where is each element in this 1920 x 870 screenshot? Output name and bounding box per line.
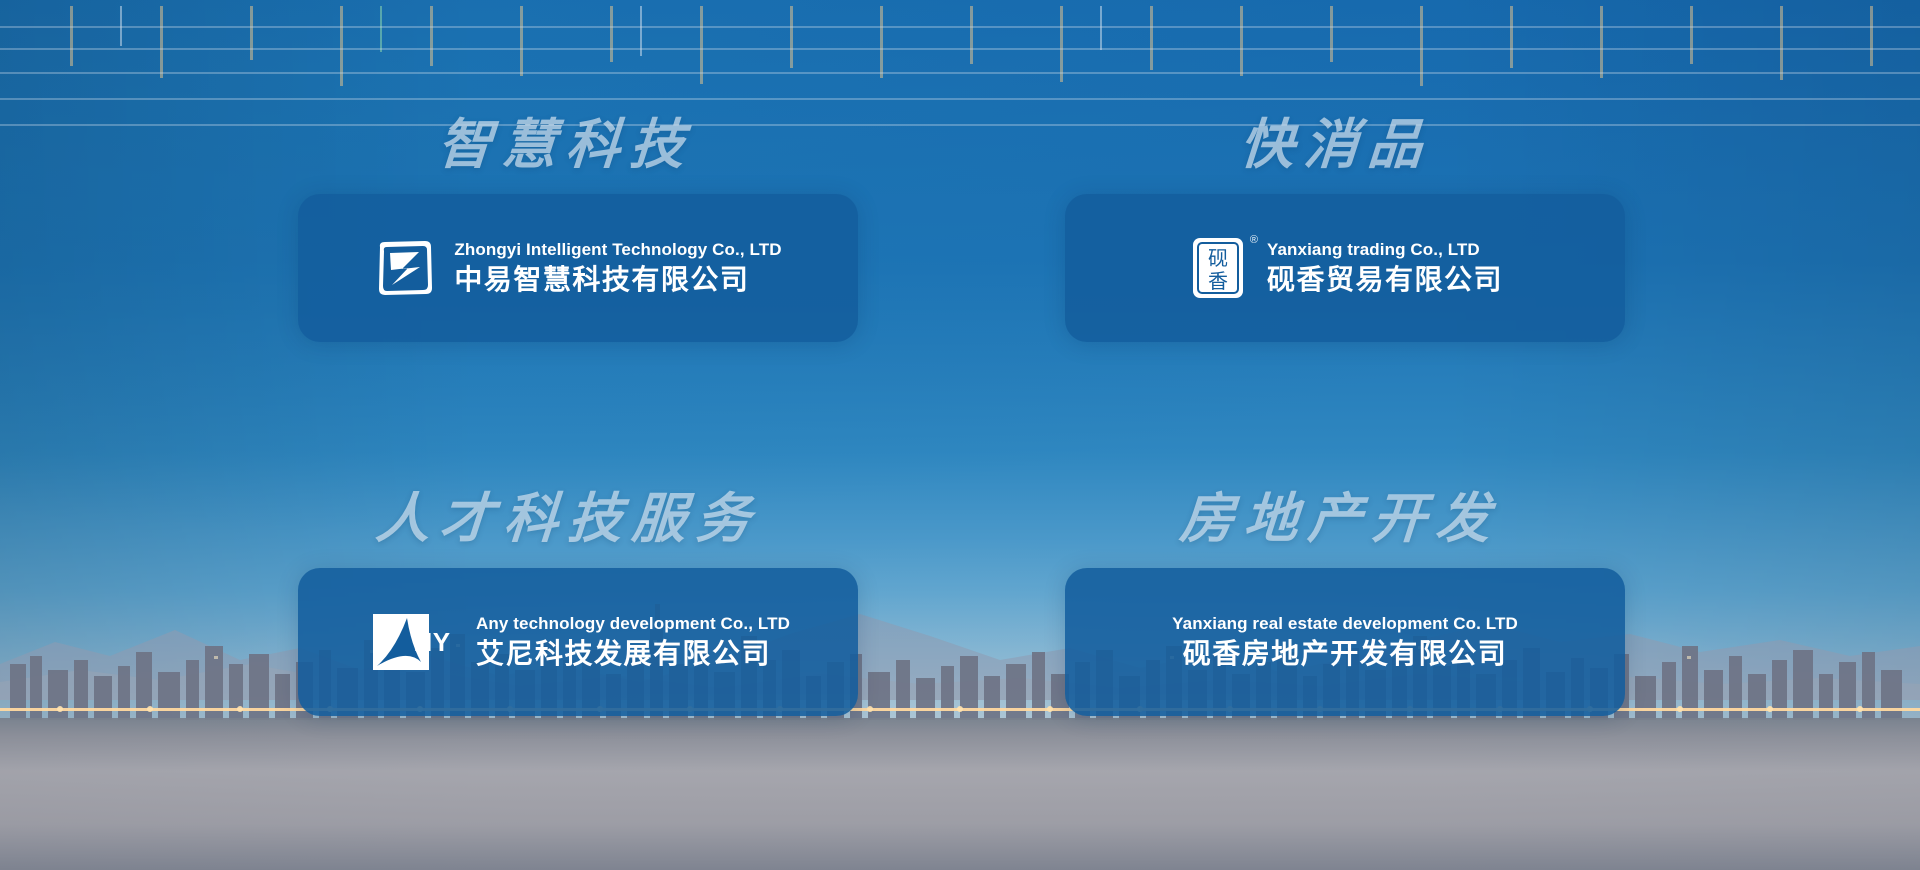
company-name-cn: 中易智慧科技有限公司 bbox=[454, 264, 781, 296]
svg-text:砚: 砚 bbox=[1208, 248, 1228, 270]
segments-grid: 智慧科技 Zhongyi Intelligent Technology Co.,… bbox=[0, 0, 1920, 870]
yanxiang-seal-logo-icon: 砚 香 ® bbox=[1187, 237, 1249, 299]
company-name-cn: 艾尼科技发展有限公司 bbox=[476, 638, 790, 670]
company-name-en: Yanxiang real estate development Co. LTD bbox=[1172, 614, 1518, 634]
company-card[interactable]: NY Any technology development Co., LTD 艾… bbox=[298, 568, 858, 716]
company-card[interactable]: 砚 香 ® Yanxiang trading Co., LTD 砚香贸易有限公司 bbox=[1065, 194, 1625, 342]
company-card-inner: Yanxiang real estate development Co. LTD… bbox=[1172, 614, 1518, 670]
segment-title: 智慧科技 bbox=[436, 118, 860, 172]
company-names: Yanxiang real estate development Co. LTD… bbox=[1172, 614, 1518, 670]
company-card[interactable]: Yanxiang real estate development Co. LTD… bbox=[1065, 568, 1625, 716]
segment-title: 房地产开发 bbox=[1178, 492, 1627, 546]
company-name-cn: 砚香贸易有限公司 bbox=[1267, 264, 1503, 296]
company-names: Yanxiang trading Co., LTD 砚香贸易有限公司 bbox=[1267, 240, 1503, 296]
segment-title: 人才科技服务 bbox=[374, 492, 860, 546]
company-name-en: Yanxiang trading Co., LTD bbox=[1267, 240, 1503, 260]
company-name-en: Zhongyi Intelligent Technology Co., LTD bbox=[454, 240, 781, 260]
company-name-cn: 砚香房地产开发有限公司 bbox=[1183, 638, 1508, 670]
page-root: 智慧科技 Zhongyi Intelligent Technology Co.,… bbox=[0, 0, 1920, 870]
segment-smart-technology: 智慧科技 Zhongyi Intelligent Technology Co.,… bbox=[298, 118, 858, 342]
segment-real-estate-development: 房地产开发 Yanxiang real estate development C… bbox=[1065, 492, 1625, 716]
company-names: Zhongyi Intelligent Technology Co., LTD … bbox=[454, 240, 781, 296]
company-card-inner: NY Any technology development Co., LTD 艾… bbox=[366, 611, 790, 673]
segment-talent-technology-services: 人才科技服务 NY Any technology development Co.… bbox=[298, 492, 858, 716]
segment-fast-moving-consumer-goods: 快消品 砚 香 ® Yanxiang trading Co., LTD bbox=[1065, 118, 1625, 342]
zhongyi-z-logo-icon bbox=[374, 237, 436, 299]
company-names: Any technology development Co., LTD 艾尼科技… bbox=[476, 614, 790, 670]
company-card[interactable]: Zhongyi Intelligent Technology Co., LTD … bbox=[298, 194, 858, 342]
any-logo-text: NY bbox=[413, 627, 450, 658]
company-card-inner: Zhongyi Intelligent Technology Co., LTD … bbox=[374, 237, 781, 299]
segment-title: 快消品 bbox=[1238, 118, 1627, 172]
any-logo-icon: NY bbox=[366, 611, 458, 673]
company-name-en: Any technology development Co., LTD bbox=[476, 614, 790, 634]
svg-text:香: 香 bbox=[1208, 270, 1228, 293]
registered-trademark-icon: ® bbox=[1250, 235, 1258, 246]
company-card-inner: 砚 香 ® Yanxiang trading Co., LTD 砚香贸易有限公司 bbox=[1187, 237, 1503, 299]
